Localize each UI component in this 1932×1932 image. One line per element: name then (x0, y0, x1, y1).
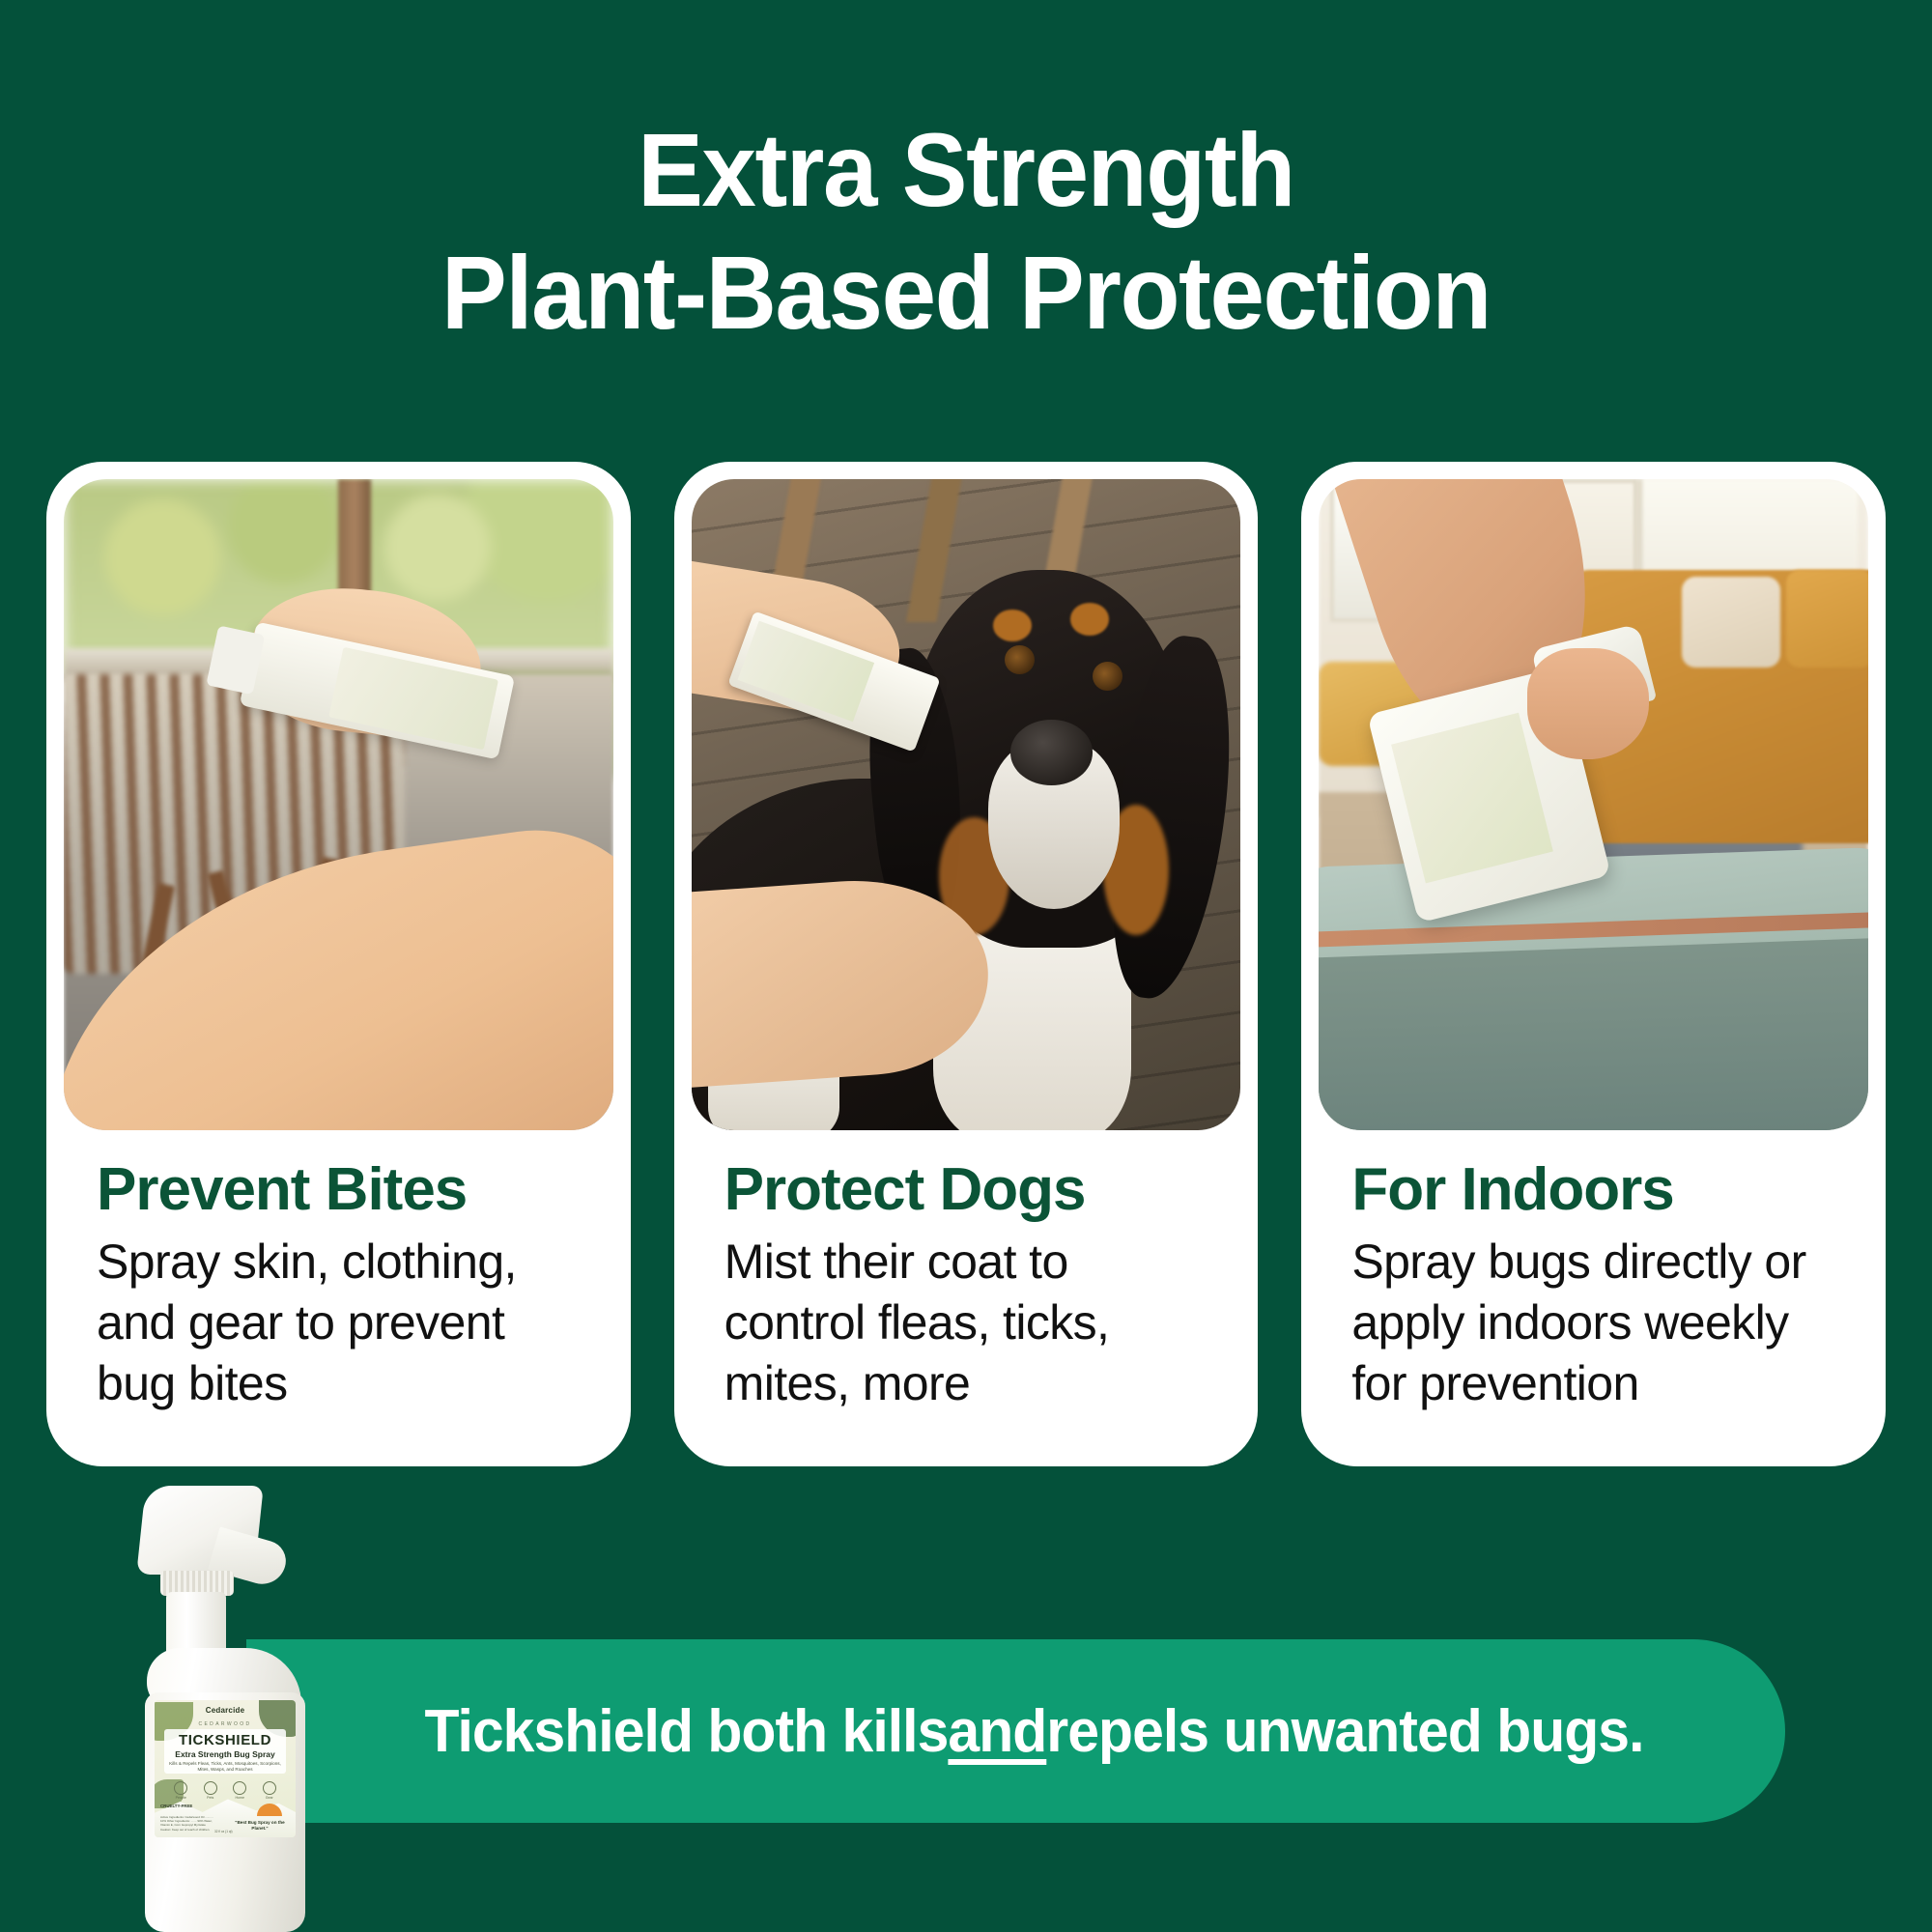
feature-body-prevent-bites: Prevent Bites Spray skin, clothing, and … (64, 1130, 613, 1414)
feature-title: Protect Dogs (724, 1159, 1208, 1220)
scene-dog-eye (1093, 662, 1122, 691)
feature-description: Mist their coat to control fleas, ticks,… (724, 1232, 1208, 1414)
feature-title: Prevent Bites (97, 1159, 581, 1220)
gear-icon (263, 1781, 276, 1795)
scene-dog-brow (1070, 603, 1109, 636)
product-subtitle: Extra Strength Bug Spray (155, 1749, 296, 1759)
scene-hand (1527, 648, 1648, 759)
bottle-label: Cedarcide CEDARWOOD TICKSHIELD Extra Str… (155, 1700, 296, 1837)
feature-card-prevent-bites[interactable]: Prevent Bites Spray skin, clothing, and … (46, 462, 631, 1466)
scene-pet-bed-base (1319, 937, 1868, 1130)
ingredients-text: Active Ingredients: Cedarwood Oil ......… (160, 1815, 214, 1832)
label-icon-people: People (174, 1781, 187, 1800)
scene-dog-nose (1010, 720, 1093, 784)
banner-text-emphasis: and (948, 1697, 1046, 1766)
product-description: Kills & Repels Fleas, Ticks, Ants, Mosqu… (164, 1761, 286, 1774)
feature-photo-prevent-bites (64, 479, 613, 1130)
feature-body-protect-dogs: Protect Dogs Mist their coat to control … (692, 1130, 1241, 1414)
label-icon-caption: Home (233, 1796, 246, 1800)
label-icon-caption: Pets (204, 1796, 217, 1800)
house-icon (233, 1781, 246, 1795)
page-title-line-2: Plant-Based Protection (58, 231, 1874, 354)
scene-patio-leg-spray (64, 479, 613, 1130)
label-icon-home: Home (233, 1781, 246, 1800)
label-icon-caption: Gear (263, 1796, 276, 1800)
cruelty-free-badge: CRUELTY-FREE (160, 1804, 192, 1808)
label-icon-gear: Gear (263, 1781, 276, 1800)
label-kicker: CEDARWOOD (155, 1721, 296, 1727)
scene-dog-eye (1005, 645, 1035, 674)
feature-body-for-indoors: For Indoors Spray bugs directly or apply… (1319, 1130, 1868, 1414)
scene-sofa-cushion (1786, 570, 1868, 668)
product-name: TICKSHIELD (155, 1732, 296, 1748)
label-icon-row: People Pets Home Gear (166, 1781, 284, 1800)
page-title-line-1: Extra Strength (58, 108, 1874, 231)
feature-card-protect-dogs[interactable]: Protect Dogs Mist their coat to control … (674, 462, 1259, 1466)
infographic-page: Extra Strength Plant-Based Protection (0, 0, 1932, 1932)
paw-icon (204, 1781, 217, 1795)
scene-dog-spray (692, 479, 1241, 1130)
page-title: Extra Strength Plant-Based Protection (58, 108, 1874, 355)
feature-description: Spray bugs directly or apply indoors wee… (1351, 1232, 1835, 1414)
label-icon-pets: Pets (204, 1781, 217, 1800)
feature-photo-protect-dogs (692, 479, 1241, 1130)
product-tagline: "Best Bug Spray on the Planet." (230, 1820, 290, 1832)
banner-text-after: repels unwanted bugs. (1046, 1697, 1643, 1766)
scene-indoor-petbed-spray (1319, 479, 1868, 1130)
brand-name: Cedarcide (155, 1706, 296, 1715)
banner-text-before: Tickshield both kills (424, 1697, 948, 1766)
feature-card-for-indoors[interactable]: For Indoors Spray bugs directly or apply… (1301, 462, 1886, 1466)
bottom-banner: Tickshield both kills and repels unwante… (246, 1639, 1785, 1823)
feature-card-row: Prevent Bites Spray skin, clothing, and … (46, 462, 1886, 1466)
scene-sofa-cushion (1682, 577, 1780, 668)
feature-photo-for-indoors (1319, 479, 1868, 1130)
bottom-banner-text: Tickshield both kills and repels unwante… (285, 1639, 1747, 1823)
feature-title: For Indoors (1351, 1159, 1835, 1220)
product-bottle: Cedarcide CEDARWOOD TICKSHIELD Extra Str… (124, 1486, 328, 1932)
feature-description: Spray skin, clothing, and gear to preven… (97, 1232, 581, 1414)
label-icon-caption: People (174, 1796, 187, 1800)
person-icon (174, 1781, 187, 1795)
